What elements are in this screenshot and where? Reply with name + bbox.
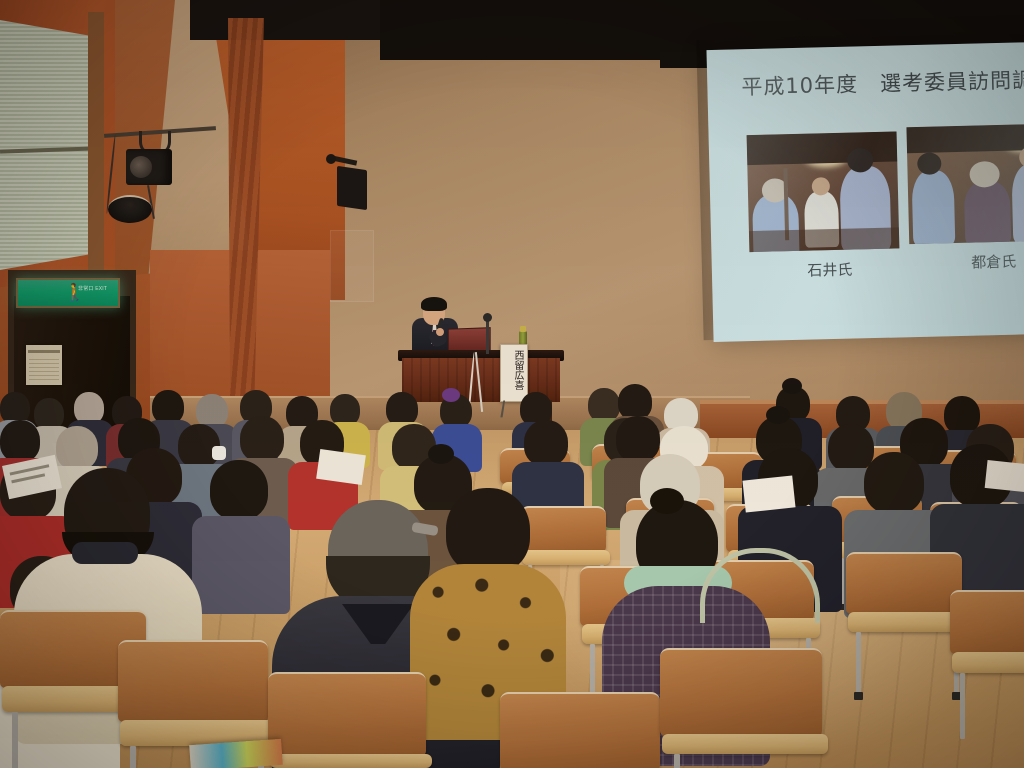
face-mask-icon: [212, 446, 226, 460]
handout-paper: [742, 475, 795, 512]
handout-paper: [985, 460, 1024, 492]
notice-header-line: [28, 350, 60, 353]
exit-sign-jp: 非常口: [78, 286, 94, 292]
spotlight-lens-icon: [130, 156, 152, 178]
louvered-acoustic-panel: [0, 20, 100, 270]
bottle-cap: [520, 326, 526, 332]
placard-text: 西留広喜: [503, 350, 523, 390]
presenter-hand: [436, 328, 444, 336]
screen-lighting-tint: [706, 42, 1024, 342]
notice-text-lines: [29, 358, 59, 380]
microphone-head-icon: [483, 313, 492, 322]
presenter-hair: [421, 297, 447, 311]
collar: [72, 542, 138, 564]
running-man-icon: 🚶: [64, 282, 75, 304]
recessed-ceiling-light: [108, 195, 152, 223]
exit-sign-label: 非常口 EXIT: [78, 286, 118, 292]
lecture-hall-photo: 🚶 非常口 EXIT 平成10年度 選考委員訪問調査風: [0, 0, 1024, 768]
microphone-stand: [486, 318, 489, 354]
projection-screen: 平成10年度 選考委員訪問調査風 石井氏 都倉氏: [706, 42, 1024, 342]
exit-sign-en: EXIT: [95, 286, 107, 292]
handout-paper: [316, 449, 366, 485]
wall-access-panel: [330, 230, 374, 302]
panel-trim: [88, 12, 104, 274]
speaker-mount-icon: [326, 154, 336, 164]
wall-speaker: [337, 166, 367, 210]
